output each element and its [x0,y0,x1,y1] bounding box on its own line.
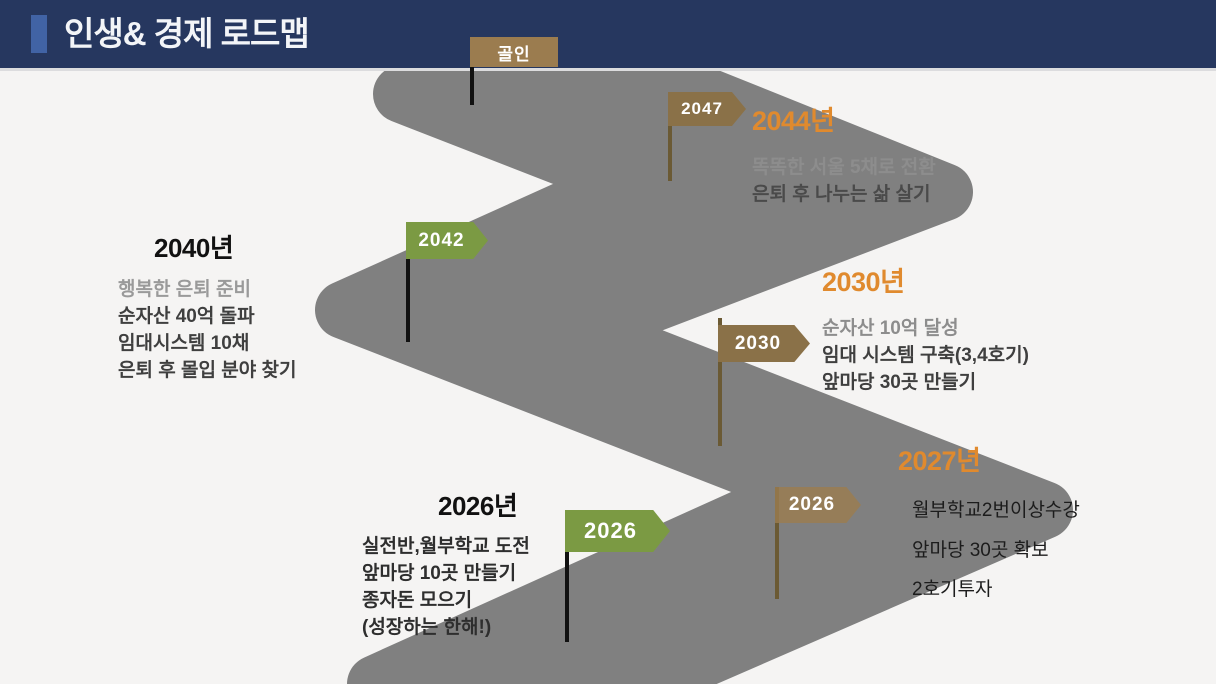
flag-2026-left[interactable]: 2026 [565,510,670,552]
milestone-2044-line-1: 똑똑한 서울 5채로 전환 [752,155,936,182]
milestone-2044-lines: 똑똑한 서울 5채로 전환 은퇴 후 나누는 삶 살기 [752,155,936,209]
milestone-2026: 2026년 실전반,월부학교 도전 앞마당 10곳 만들기 종자돈 모으기 (성… [362,492,530,641]
milestone-2026-line-4: (성장하는 한해!) [362,615,530,642]
flag-2047-label: 2047 [681,99,723,119]
milestone-2040-line-1: 행복한 은퇴 준비 [118,277,296,304]
flag-2042-label: 2042 [418,230,464,252]
flag-goal-label: 골인 [497,40,530,65]
flag-2026-left-label: 2026 [584,518,637,544]
milestone-2044-year: 2044년 [752,107,936,137]
milestone-2030-line-3: 앞마당 30곳 만들기 [822,370,1029,397]
milestone-2026-line-3: 종자돈 모으기 [362,588,530,615]
milestone-2027-year: 2027년 [898,447,1080,477]
header-accent-bar [31,15,47,53]
milestone-2030: 2030년 순자산 10억 달성 임대 시스템 구축(3,4호기) 앞마당 30… [822,268,1029,397]
milestone-2030-line-1: 순자산 10억 달성 [822,316,1029,343]
roadmap-canvas: 인생& 경제 로드맵 골인 2047 2042 2030 2026 2026 2… [0,0,1216,684]
milestone-2026-line-2: 앞마당 10곳 만들기 [362,561,530,588]
milestone-2027: 2027년 월부학교2번이상수강 앞마당 30곳 확보 2호기투자 [898,447,1080,610]
milestone-2040-year: 2040년 [154,234,296,263]
milestone-2040-lines: 행복한 은퇴 준비 순자산 40억 돌파 임대시스템 10채 은퇴 후 몰입 분… [118,277,296,385]
flag-goal[interactable]: 골인 [470,37,558,67]
milestone-2040-line-3: 임대시스템 10채 [118,331,296,358]
milestone-2040-line-2: 순자산 40억 돌파 [118,304,296,331]
milestone-2027-line-2: 앞마당 30곳 확보 [912,531,1080,571]
flag-2026-right[interactable]: 2026 [775,487,861,523]
milestone-2030-year: 2030년 [822,268,1029,298]
milestone-2026-line-1: 실전반,월부학교 도전 [362,534,530,561]
milestone-2027-line-3: 2호기투자 [912,570,1080,610]
milestone-2026-year: 2026년 [438,492,530,521]
milestone-2026-lines: 실전반,월부학교 도전 앞마당 10곳 만들기 종자돈 모으기 (성장하는 한해… [362,534,530,642]
flag-2042[interactable]: 2042 [406,222,488,259]
milestone-2027-lines: 월부학교2번이상수강 앞마당 30곳 확보 2호기투자 [912,491,1080,611]
flag-2047[interactable]: 2047 [668,92,746,126]
milestone-2030-lines: 순자산 10억 달성 임대 시스템 구축(3,4호기) 앞마당 30곳 만들기 [822,316,1029,397]
milestone-2027-line-1: 월부학교2번이상수강 [912,491,1080,531]
milestone-2040-line-4: 은퇴 후 몰입 분야 찾기 [118,358,296,385]
page-title: 인생& 경제 로드맵 [64,9,309,59]
flag-2030[interactable]: 2030 [718,325,810,362]
milestone-2044: 2044년 똑똑한 서울 5채로 전환 은퇴 후 나누는 삶 살기 [752,107,936,209]
flag-2026-right-label: 2026 [789,494,835,516]
milestone-2030-line-2: 임대 시스템 구축(3,4호기) [822,343,1029,370]
flag-2030-label: 2030 [735,333,781,355]
header-bar: 인생& 경제 로드맵 [0,0,1216,68]
milestone-2040: 2040년 행복한 은퇴 준비 순자산 40억 돌파 임대시스템 10채 은퇴 … [118,234,296,384]
header-divider [0,68,1216,71]
milestone-2044-line-2: 은퇴 후 나누는 삶 살기 [752,182,936,209]
